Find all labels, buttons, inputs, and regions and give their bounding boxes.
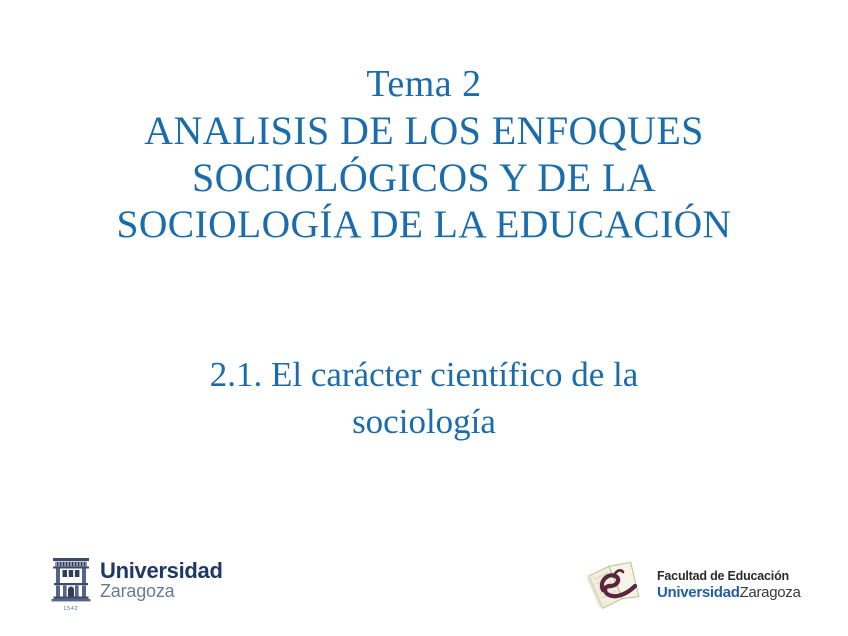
- logo-unizar-universidad: Universidad: [100, 559, 223, 582]
- logo-universidad-zaragoza: 1542 Universidad Zaragoza: [50, 556, 223, 612]
- title-line-tema: Tema 2: [0, 62, 848, 107]
- university-building-icon: 1542: [50, 556, 92, 612]
- logo-facultad-educacion: Facultad de Educación UniversidadZaragoz…: [585, 556, 801, 614]
- title-line-sociologia-educacion: SOCIOLOGÍA DE LA EDUCACIÓN: [0, 201, 848, 248]
- logo-facultad-subtitle: UniversidadZaragoza: [657, 584, 801, 603]
- slide-canvas: Tema 2 ANALISIS DE LOS ENFOQUES SOCIOLÓG…: [0, 0, 848, 636]
- subtitle-line-caracter-cientifico: 2.1. El carácter científico de la: [0, 352, 848, 399]
- title-line-sociologicos: SOCIOLÓGICOS Y DE LA: [0, 154, 848, 201]
- logo-unizar-zaragoza: Zaragoza: [100, 582, 223, 601]
- open-book-e-emblem-icon: [585, 556, 647, 614]
- logo-facultad-wordmark: Facultad de Educación UniversidadZaragoz…: [657, 567, 801, 603]
- logo-facultad-zaragoza: Zaragoza: [740, 584, 801, 601]
- slide-subtitle: 2.1. El carácter científico de la sociol…: [0, 352, 848, 445]
- logo-facultad-universidad: Universidad: [657, 584, 740, 601]
- university-founding-year: 1542: [50, 606, 92, 612]
- title-line-analisis: ANALISIS DE LOS ENFOQUES: [0, 107, 848, 154]
- logo-unizar-wordmark: Universidad Zaragoza: [100, 556, 223, 601]
- logo-facultad-title: Facultad de Educación: [657, 569, 801, 585]
- subtitle-line-sociologia: sociología: [0, 399, 848, 446]
- slide-title: Tema 2 ANALISIS DE LOS ENFOQUES SOCIOLÓG…: [0, 62, 848, 248]
